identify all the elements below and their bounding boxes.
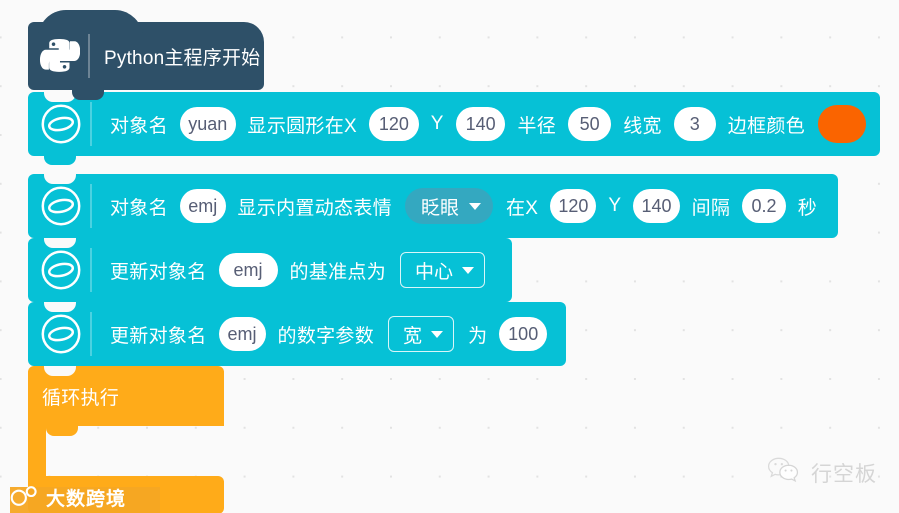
label-update-object-name: 更新对象名 <box>110 257 207 284</box>
hat-block-python-main-start[interactable]: Python主程序开始 <box>28 22 264 90</box>
input-param-value[interactable]: 100 <box>499 317 547 351</box>
loop-inner-notch <box>46 426 78 436</box>
block-divider <box>90 248 92 292</box>
label-show-circle-at-x: 显示圆形在X <box>248 111 357 138</box>
input-object-name[interactable]: emj <box>219 253 278 287</box>
block-divider <box>90 102 92 146</box>
label-seconds: 秒 <box>798 193 817 220</box>
block-top-dent <box>44 302 76 312</box>
input-circle-x[interactable]: 120 <box>369 107 419 141</box>
input-emoji-x[interactable]: 120 <box>550 189 596 223</box>
label-origin-point-to: 的基准点为 <box>290 257 387 284</box>
label-set-to: 为 <box>468 321 487 348</box>
logo-icon <box>10 484 40 513</box>
loop-left-arm <box>28 426 46 476</box>
input-radius[interactable]: 50 <box>568 107 611 141</box>
label-interval: 间隔 <box>692 193 731 220</box>
dropdown-origin-point-value: 中心 <box>415 257 453 284</box>
loop-block-label: 循环执行 <box>42 383 119 410</box>
input-emoji-y[interactable]: 140 <box>633 189 679 223</box>
input-line-width[interactable]: 3 <box>674 107 716 141</box>
label-object-name: 对象名 <box>110 111 168 138</box>
label-show-builtin-emoji: 显示内置动态表情 <box>238 193 392 220</box>
oval-object-icon <box>38 311 84 357</box>
label-number-param: 的数字参数 <box>278 321 375 348</box>
block-divider <box>90 312 92 356</box>
watermark-right: 行空板 <box>767 456 877 489</box>
chevron-down-icon <box>469 203 481 210</box>
blockly-workspace[interactable]: Python主程序开始 对象名 yuan 显示圆形在X 120 Y 140 半径… <box>0 0 899 513</box>
hat-dome <box>38 10 143 38</box>
block-draw-circle[interactable]: 对象名 yuan 显示圆形在X 120 Y 140 半径 50 线宽 3 边框颜… <box>28 92 880 156</box>
watermark-right-label: 行空板 <box>811 458 877 488</box>
label-update-object-name: 更新对象名 <box>110 321 207 348</box>
label-y: Y <box>608 195 621 217</box>
input-interval[interactable]: 0.2 <box>742 189 785 223</box>
block-update-object-number-param[interactable]: 更新对象名 emj 的数字参数 宽 为 100 <box>28 302 566 366</box>
dropdown-emoji-type[interactable]: 眨眼 <box>405 188 493 224</box>
hat-block-label: Python主程序开始 <box>90 43 260 70</box>
hat-bottom-notch <box>72 89 104 100</box>
block-bottom-notch <box>44 155 76 165</box>
block-divider <box>90 184 92 228</box>
oval-object-icon <box>38 183 84 229</box>
label-border-color: 边框颜色 <box>728 111 805 138</box>
oval-object-icon <box>38 101 84 147</box>
loop-top-dent <box>44 366 76 376</box>
block-top-dent <box>44 174 76 184</box>
wechat-bubble-icon <box>767 456 801 489</box>
block-show-builtin-animated-emoji[interactable]: 对象名 emj 显示内置动态表情 眨眼 在X 120 Y 140 间隔 0.2 … <box>28 174 838 238</box>
oval-object-icon <box>38 247 84 293</box>
input-object-name[interactable]: emj <box>180 189 226 223</box>
input-object-name[interactable]: emj <box>219 317 266 351</box>
label-y: Y <box>431 113 444 135</box>
dropdown-origin-point[interactable]: 中心 <box>400 252 485 288</box>
chevron-down-icon <box>431 331 443 338</box>
input-circle-y[interactable]: 140 <box>456 107 506 141</box>
python-logo-icon <box>38 35 80 77</box>
dropdown-emoji-type-value: 眨眼 <box>421 193 459 220</box>
input-object-name[interactable]: yuan <box>180 107 236 141</box>
label-object-name: 对象名 <box>110 193 168 220</box>
watermark-left: 大数跨境 <box>10 484 126 513</box>
block-update-object-origin[interactable]: 更新对象名 emj 的基准点为 中心 <box>28 238 512 302</box>
dropdown-number-param-value: 宽 <box>403 321 422 348</box>
label-at-x: 在X <box>506 193 538 220</box>
chevron-down-icon <box>462 267 474 274</box>
label-line-width: 线宽 <box>623 111 662 138</box>
label-radius: 半径 <box>517 111 556 138</box>
watermark-left-label: 大数跨境 <box>46 487 126 513</box>
dropdown-number-param[interactable]: 宽 <box>388 316 454 352</box>
border-color-swatch[interactable] <box>818 105 866 143</box>
block-top-dent <box>44 238 76 248</box>
